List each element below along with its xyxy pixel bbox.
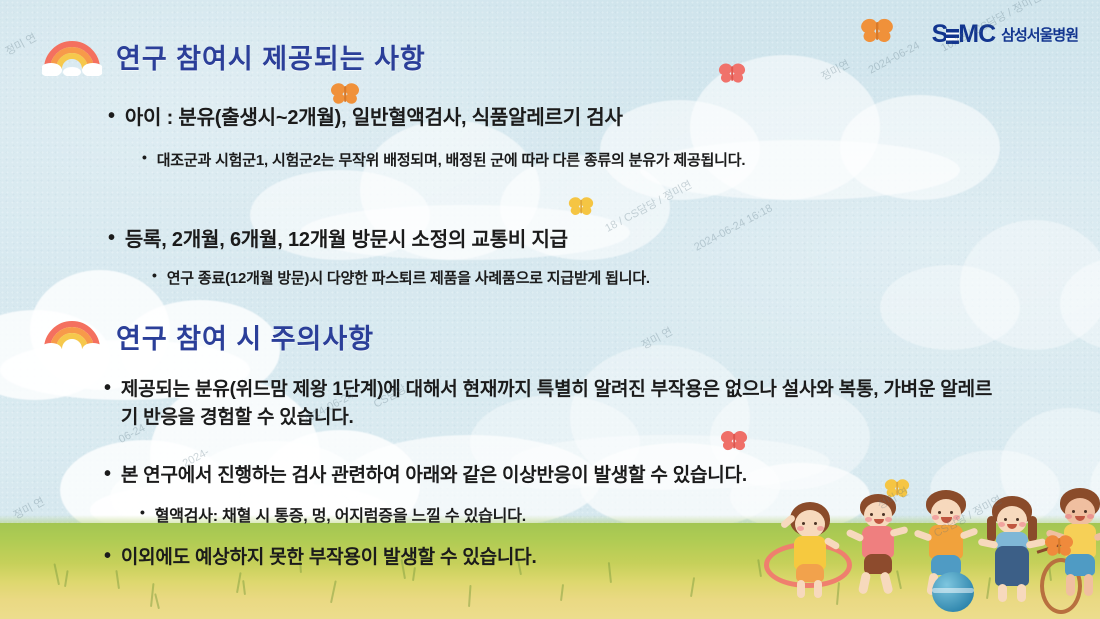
bullet-level1: • 제공되는 분유(위드맘 제왕 1단계)에 대해서 현재까지 특별히 알려진 … [104, 376, 1008, 431]
bullet-text: 등록, 2개월, 6개월, 12개월 방문시 소정의 교통비 지급 [125, 226, 568, 255]
bullet-text: 대조군과 시험군1, 시험군2는 무작위 배정되며, 배정된 군에 따라 다른 … [157, 148, 746, 174]
bullet-marker: • [140, 503, 145, 523]
section-heading-benefits: 연구 참여시 제공되는 사항 [42, 36, 426, 76]
bullet-marker: • [104, 376, 111, 401]
bullet-level2: • 대조군과 시험군1, 시험군2는 무작위 배정되며, 배정된 군에 따라 다… [142, 148, 852, 174]
bullet-text: 본 연구에서 진행하는 검사 관련하여 아래와 같은 이상반응이 발생할 수 있… [121, 462, 747, 490]
slide-content: 연구 참여시 제공되는 사항 • 아이 : 분유(출생시~2개월), 일반혈액검… [0, 0, 1100, 619]
bullet-level1: • 이외에도 예상하지 못한 부작용이 발생할 수 있습니다. [104, 544, 1008, 572]
section-heading-precautions: 연구 참여 시 주의사항 [42, 316, 374, 356]
section-title: 연구 참여시 제공되는 사항 [116, 37, 426, 76]
presentation-slide: SMC 삼성서울병원 연구 참여시 제공되는 사항 • 아이 : 분유(출생시~… [0, 0, 1100, 619]
bullet-marker: • [104, 544, 111, 569]
bullet-text: 혈액검사: 채혈 시 통증, 멍, 어지럼증을 느낄 수 있습니다. [155, 503, 526, 531]
bullet-marker: • [108, 104, 115, 129]
bullet-text: 연구 종료(12개월 방문)시 다양한 파스퇴르 제품을 사례품으로 지급받게 … [167, 266, 650, 292]
bullet-marker: • [104, 462, 111, 487]
bullet-level1: • 본 연구에서 진행하는 검사 관련하여 아래와 같은 이상반응이 발생할 수… [104, 462, 1008, 490]
bullet-text: 이외에도 예상하지 못한 부작용이 발생할 수 있습니다. [121, 544, 537, 572]
bullet-marker: • [142, 148, 147, 168]
bullet-level1: • 등록, 2개월, 6개월, 12개월 방문시 소정의 교통비 지급 [108, 226, 1008, 255]
bullet-marker: • [108, 226, 115, 251]
bullet-level2: • 혈액검사: 채혈 시 통증, 멍, 어지럼증을 느낄 수 있습니다. [140, 503, 900, 531]
section-title: 연구 참여 시 주의사항 [116, 317, 374, 356]
rainbow-icon [42, 36, 102, 76]
rainbow-icon [42, 316, 102, 356]
bullet-text: 아이 : 분유(출생시~2개월), 일반혈액검사, 식품알레르기 검사 [125, 104, 623, 133]
bullet-level2: • 연구 종료(12개월 방문)시 다양한 파스퇴르 제품을 사례품으로 지급받… [152, 266, 1032, 292]
bullet-text: 제공되는 분유(위드맘 제왕 1단계)에 대해서 현재까지 특별히 알려진 부작… [121, 376, 1008, 431]
bullet-marker: • [152, 266, 157, 286]
bullet-level1: • 아이 : 분유(출생시~2개월), 일반혈액검사, 식품알레르기 검사 [108, 104, 1008, 133]
